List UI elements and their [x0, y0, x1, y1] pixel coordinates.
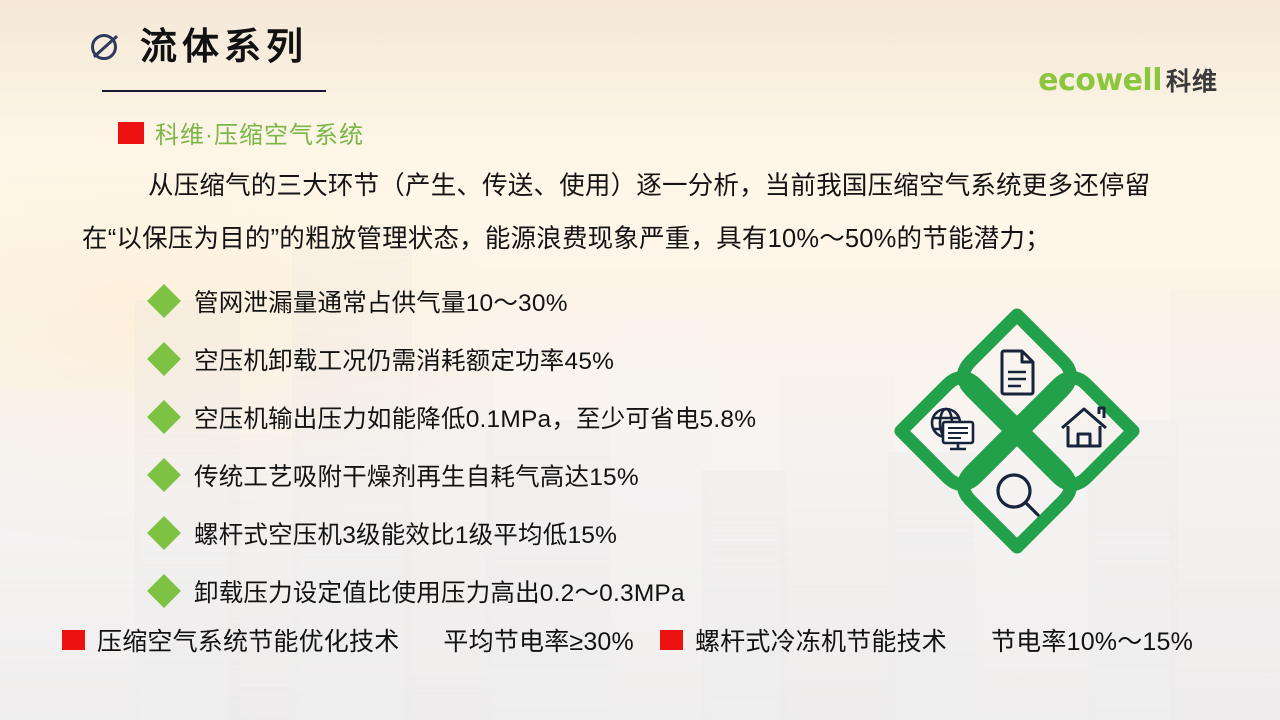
slide-canvas: 流体系列 ecowell 科维 科维·压缩空气系统 从压缩气的三大环节（产生、传… — [0, 0, 1280, 720]
slashed-circle-icon — [88, 30, 122, 64]
clover-diamond-graphic — [888, 302, 1146, 560]
list-item: 螺杆式空压机3级能效比1级平均低15% — [150, 504, 756, 562]
section-title: 科维·压缩空气系统 — [155, 115, 364, 150]
logo-brand-cn: 科维 — [1166, 62, 1218, 98]
footer-item-2: 螺杆式冷冻机节能技术 节电率10%～15% — [660, 622, 1193, 658]
list-item-label: 管网泄漏量通常占供气量10～30% — [194, 284, 568, 319]
document-icon — [1002, 351, 1033, 394]
list-item-label: 空压机输出压力如能降低0.1MPa，至少可省电5.8% — [194, 400, 756, 435]
house-icon — [1062, 408, 1106, 446]
list-item: 卸载压力设定值比使用压力高出0.2～0.3MPa — [150, 562, 756, 620]
magnifier-icon — [998, 475, 1038, 515]
footer-bar: 压缩空气系统节能优化技术 平均节电率≥30% 螺杆式冷冻机节能技术 节电率10%… — [62, 622, 1240, 658]
list-item-label: 空压机卸载工况仍需消耗额定功率45% — [194, 342, 614, 377]
page-title: 流体系列 — [140, 28, 308, 65]
logo-brand-latin: ecowell — [1038, 63, 1162, 98]
footer-item-value: 节电率10%～15% — [991, 622, 1193, 658]
red-square-bullet-icon — [118, 122, 144, 144]
footer-item-label: 压缩空气系统节能优化技术 — [97, 622, 399, 658]
paragraph-line-2: 在“以保压为目的”的粗放管理状态，能源浪费现象严重，具有10%～50%的节能潜力… — [82, 225, 1051, 253]
list-item-label: 螺杆式空压机3级能效比1级平均低15% — [194, 516, 617, 551]
list-item: 管网泄漏量通常占供气量10～30% — [150, 272, 756, 330]
globe-monitor-icon — [932, 409, 973, 449]
diamond-bullet-icon — [147, 342, 181, 376]
footer-item-1: 压缩空气系统节能优化技术 平均节电率≥30% — [62, 622, 634, 658]
title-underline — [102, 90, 326, 92]
list-item: 空压机卸载工况仍需消耗额定功率45% — [150, 330, 756, 388]
diamond-bullet-icon — [147, 574, 181, 608]
paragraph-line-1: 从压缩气的三大环节（产生、传送、使用）逐一分析，当前我国压缩空气系统更多还停留 — [148, 172, 1150, 200]
diamond-bullet-icon — [147, 284, 181, 318]
red-square-bullet-icon — [62, 630, 85, 650]
footer-item-value: 平均节电率≥30% — [443, 622, 634, 658]
page-title-row: 流体系列 — [88, 28, 308, 65]
diamond-bullet-icon — [147, 400, 181, 434]
list-item-label: 传统工艺吸附干燥剂再生自耗气高达15% — [194, 458, 639, 493]
bullet-list: 管网泄漏量通常占供气量10～30% 空压机卸载工况仍需消耗额定功率45% 空压机… — [150, 272, 756, 620]
list-item: 传统工艺吸附干燥剂再生自耗气高达15% — [150, 446, 756, 504]
section-heading: 科维·压缩空气系统 — [118, 115, 364, 150]
red-square-bullet-icon — [660, 630, 683, 650]
brand-logo: ecowell 科维 — [1038, 62, 1218, 98]
list-item-label: 卸载压力设定值比使用压力高出0.2～0.3MPa — [194, 574, 685, 609]
diamond-bullet-icon — [147, 458, 181, 492]
footer-item-label: 螺杆式冷冻机节能技术 — [695, 622, 947, 658]
list-item: 空压机输出压力如能降低0.1MPa，至少可省电5.8% — [150, 388, 756, 446]
diamond-bullet-icon — [147, 516, 181, 550]
intro-paragraph: 从压缩气的三大环节（产生、传送、使用）逐一分析，当前我国压缩空气系统更多还停留 … — [82, 160, 1212, 266]
